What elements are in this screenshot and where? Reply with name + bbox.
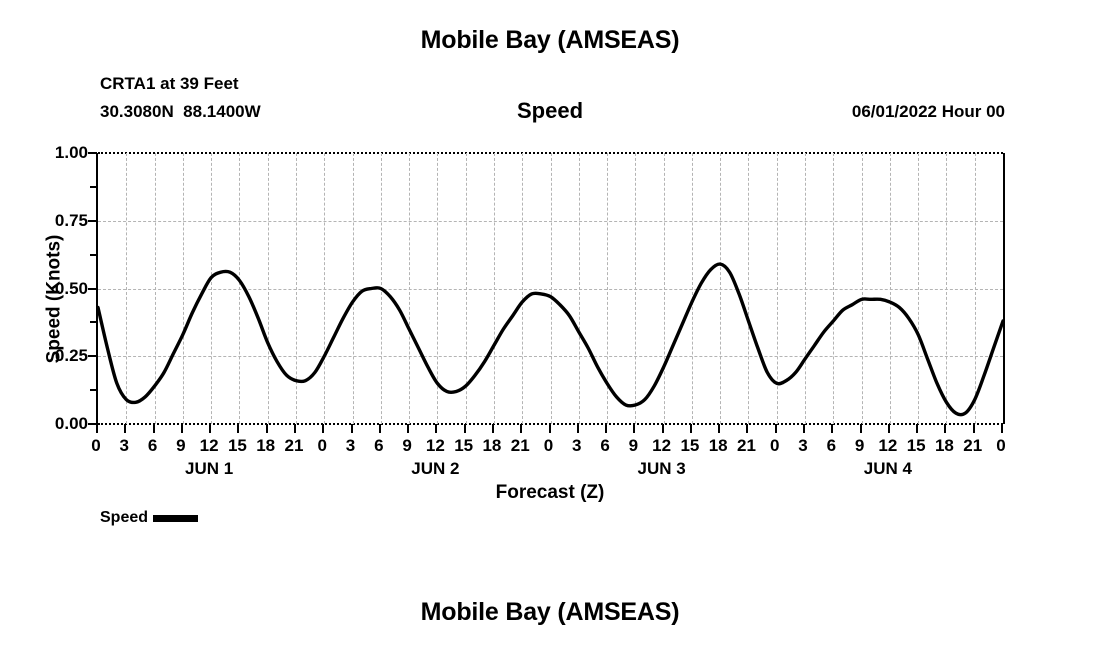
x-tick-mark [577, 424, 579, 433]
x-tick-label: 12 [878, 436, 897, 456]
x-axis-day-label: JUN 4 [864, 459, 912, 479]
x-tick-mark [690, 424, 692, 433]
x-tick-label: 0 [318, 436, 327, 456]
chart-page: Mobile Bay (AMSEAS) CRTA1 at 39 Feet 30.… [0, 0, 1100, 650]
legend: Speed [100, 509, 198, 527]
x-tick-label: 3 [346, 436, 355, 456]
legend-label-speed: Speed [100, 509, 148, 527]
x-tick-mark [1001, 424, 1003, 433]
y-tick-label: 0.25 [18, 346, 88, 366]
x-tick-mark [266, 424, 268, 433]
x-tick-mark [181, 424, 183, 433]
x-tick-mark [718, 424, 720, 433]
x-tick-label: 0 [544, 436, 553, 456]
x-tick-mark [209, 424, 211, 433]
x-tick-mark [153, 424, 155, 433]
x-tick-label: 0 [770, 436, 779, 456]
y-tick-label: 0.50 [18, 279, 88, 299]
x-tick-mark [435, 424, 437, 433]
x-tick-label: 0 [996, 436, 1005, 456]
y-tick-label: 0.75 [18, 211, 88, 231]
x-tick-label: 18 [709, 436, 728, 456]
x-tick-mark [605, 424, 607, 433]
x-tick-mark [633, 424, 635, 433]
x-tick-label: 3 [572, 436, 581, 456]
x-tick-label: 6 [148, 436, 157, 456]
x-axis-day-label: JUN 1 [185, 459, 233, 479]
series-line-speed [98, 264, 1003, 415]
x-tick-label: 18 [935, 436, 954, 456]
x-tick-mark [379, 424, 381, 433]
x-tick-label: 15 [228, 436, 247, 456]
x-axis-day-label: JUN 2 [411, 459, 459, 479]
x-tick-mark [124, 424, 126, 433]
x-tick-mark [944, 424, 946, 433]
x-tick-label: 21 [285, 436, 304, 456]
y-tick-label: 0.00 [18, 414, 88, 434]
x-tick-mark [294, 424, 296, 433]
series-layer [98, 153, 1003, 424]
chart-title-top: Mobile Bay (AMSEAS) [0, 26, 1100, 55]
x-tick-mark [322, 424, 324, 433]
x-tick-mark [464, 424, 466, 433]
x-tick-mark [775, 424, 777, 433]
x-tick-label: 6 [827, 436, 836, 456]
x-tick-label: 3 [120, 436, 129, 456]
x-tick-label: 9 [176, 436, 185, 456]
x-tick-mark [237, 424, 239, 433]
x-tick-mark [803, 424, 805, 433]
x-axis-label: Forecast (Z) [0, 482, 1100, 504]
x-tick-mark [520, 424, 522, 433]
x-tick-label: 21 [737, 436, 756, 456]
x-tick-label: 12 [426, 436, 445, 456]
x-tick-label: 21 [511, 436, 530, 456]
x-tick-label: 15 [907, 436, 926, 456]
x-tick-label: 9 [629, 436, 638, 456]
x-tick-label: 15 [680, 436, 699, 456]
y-axis-label: Speed (Knots) [43, 235, 65, 364]
chart-title-bottom: Mobile Bay (AMSEAS) [0, 598, 1100, 627]
x-tick-mark [746, 424, 748, 433]
station-info: CRTA1 at 39 Feet [100, 74, 239, 94]
legend-swatch-speed [153, 515, 198, 522]
x-tick-label: 6 [600, 436, 609, 456]
x-tick-label: 15 [454, 436, 473, 456]
x-tick-label: 0 [91, 436, 100, 456]
y-tick-label: 1.00 [18, 143, 88, 163]
x-tick-mark [96, 424, 98, 433]
x-tick-label: 9 [402, 436, 411, 456]
x-tick-mark [492, 424, 494, 433]
x-tick-mark [351, 424, 353, 433]
x-tick-mark [888, 424, 890, 433]
model-run-time: 06/01/2022 Hour 00 [852, 102, 1005, 122]
x-tick-label: 12 [652, 436, 671, 456]
x-tick-label: 12 [200, 436, 219, 456]
x-tick-mark [973, 424, 975, 433]
x-tick-label: 6 [374, 436, 383, 456]
x-tick-mark [662, 424, 664, 433]
x-tick-label: 21 [963, 436, 982, 456]
x-tick-label: 3 [798, 436, 807, 456]
x-tick-label: 9 [855, 436, 864, 456]
x-tick-label: 18 [482, 436, 501, 456]
x-axis-day-label: JUN 3 [638, 459, 686, 479]
x-tick-mark [831, 424, 833, 433]
x-tick-label: 18 [256, 436, 275, 456]
x-tick-mark [916, 424, 918, 433]
x-tick-mark [407, 424, 409, 433]
plot-area [96, 153, 1005, 424]
x-tick-mark [549, 424, 551, 433]
x-tick-mark [860, 424, 862, 433]
